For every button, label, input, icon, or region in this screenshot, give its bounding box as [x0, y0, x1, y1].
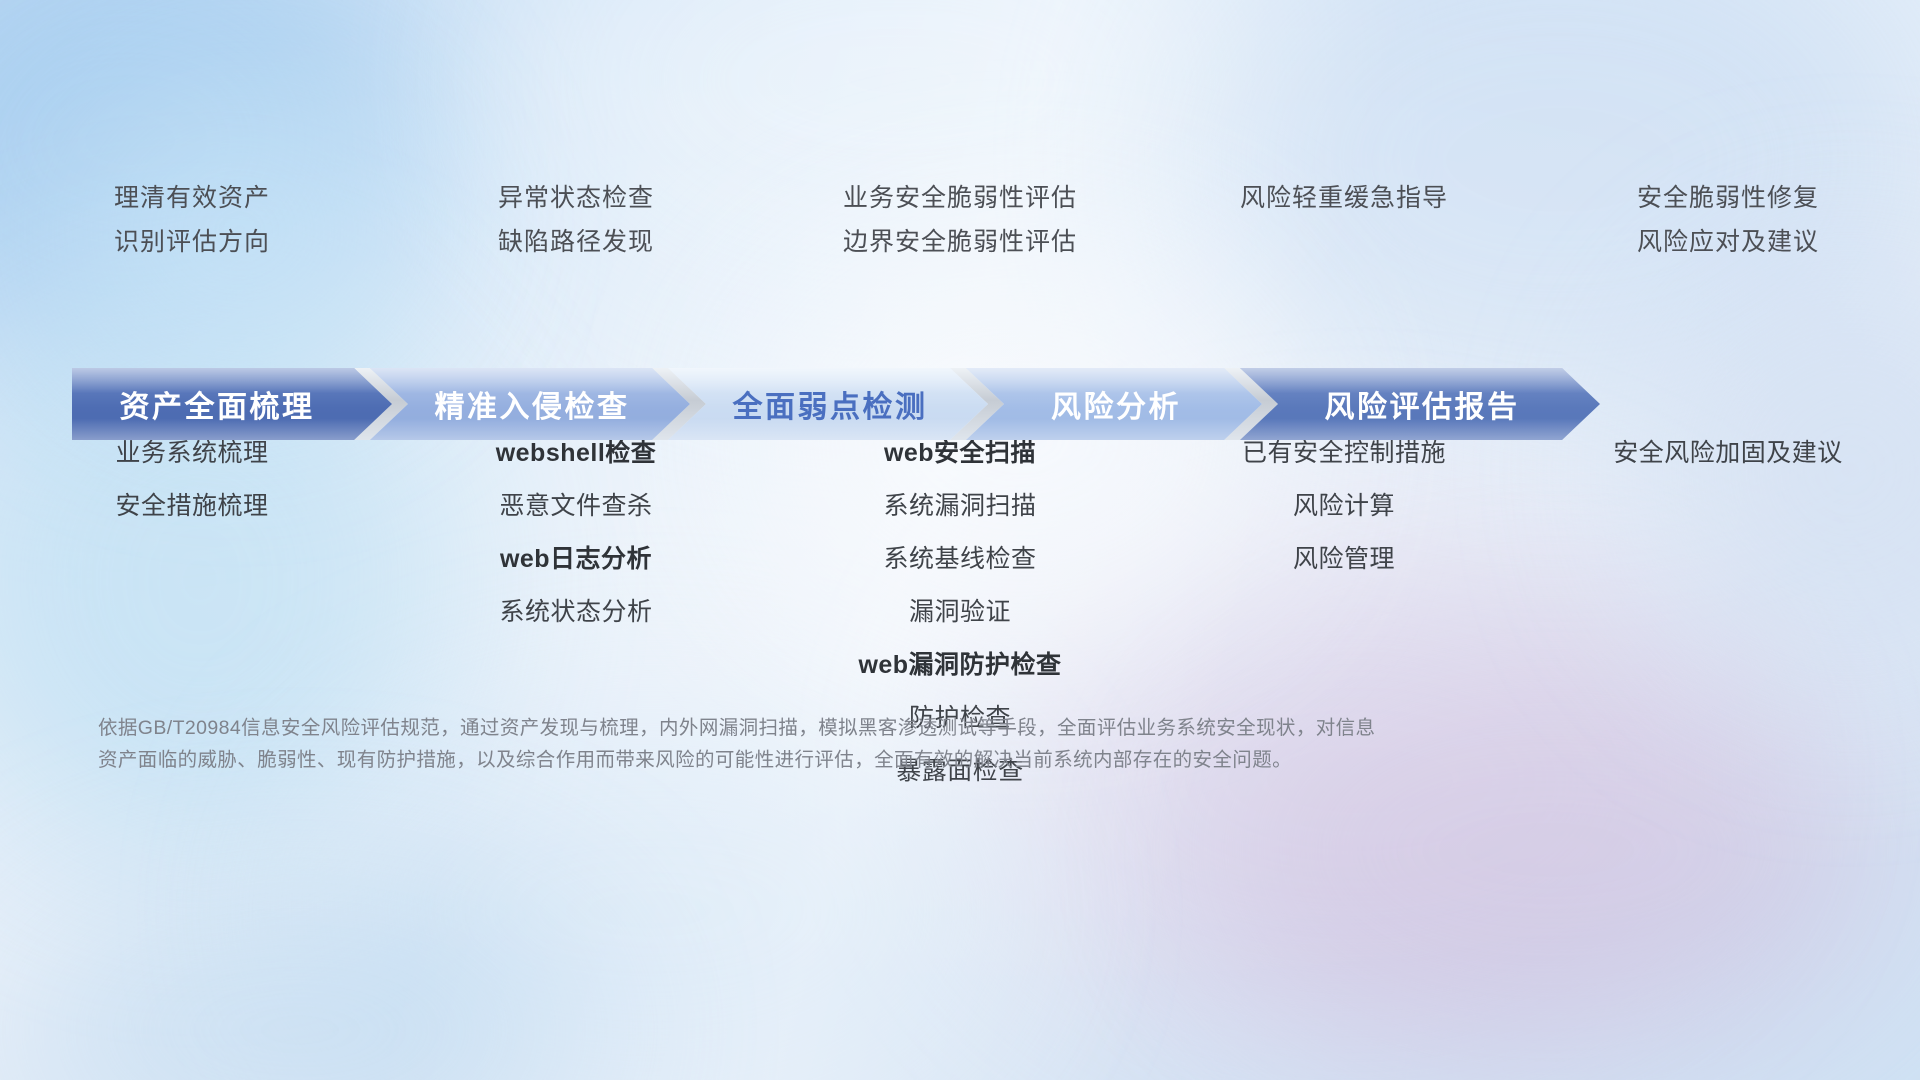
chevron-stage-5[interactable]: 风险评估报告: [1240, 368, 1600, 440]
top-labels-stage-5: 安全脆弱性修复 风险应对及建议: [1536, 186, 1920, 274]
list-item: webshell检查: [496, 441, 657, 466]
top-label: 边界安全脆弱性评估: [843, 230, 1077, 255]
list-item: 风险计算: [1293, 494, 1395, 519]
list-item: 安全风险加固及建议: [1613, 441, 1843, 466]
footer-line: 资产面临的威胁、脆弱性、现有防护措施，以及综合作用而带来风险的可能性进行评估，全…: [98, 744, 1618, 776]
chevron-label: 风险评估报告: [1240, 382, 1600, 426]
list-item: 业务系统梳理: [115, 441, 268, 466]
chevron-label: 风险分析: [966, 382, 1262, 426]
top-label: 安全脆弱性修复: [1637, 186, 1819, 211]
top-labels-stage-1: 理清有效资产 识别评估方向: [0, 186, 384, 274]
list-item: web日志分析: [500, 547, 652, 572]
footer-description: 依据GB/T20984信息安全风险评估规范，通过资产发现与梳理，内外网漏洞扫描，…: [98, 712, 1618, 776]
list-item: 安全措施梳理: [115, 494, 268, 519]
list-item: web漏洞防护检查: [858, 653, 1061, 678]
top-labels-stage-2: 异常状态检查 缺陷路径发现: [384, 186, 768, 274]
list-item: 系统漏洞扫描: [883, 494, 1036, 519]
top-label: 识别评估方向: [114, 230, 270, 255]
list-item: 已有安全控制措施: [1242, 441, 1446, 466]
chevron-label: 资产全面梳理: [72, 382, 392, 426]
list-item: web安全扫描: [884, 441, 1036, 466]
list-item: 风险管理: [1293, 547, 1395, 572]
list-item: 恶意文件查杀: [499, 494, 652, 519]
chevron-stage-2[interactable]: 精准入侵检查: [370, 368, 690, 440]
top-label: 理清有效资产: [114, 186, 270, 211]
list-item: 漏洞验证: [909, 600, 1011, 625]
list-item: 系统基线检查: [883, 547, 1036, 572]
chevron-stage-4[interactable]: 风险分析: [966, 368, 1262, 440]
chevron-label: 全面弱点检测: [668, 382, 988, 426]
list-item: 系统状态分析: [499, 600, 652, 625]
top-label: 缺陷路径发现: [498, 230, 654, 255]
top-label: 风险轻重缓急指导: [1240, 186, 1448, 211]
process-chevron-band: 资产全面梳理 精准入侵检查 全面弱点检测 风险分析 风险评估报告: [72, 368, 1848, 440]
chevron-stage-3[interactable]: 全面弱点检测: [668, 368, 988, 440]
footer-line: 依据GB/T20984信息安全风险评估规范，通过资产发现与梳理，内外网漏洞扫描，…: [98, 712, 1618, 744]
chevron-stage-1[interactable]: 资产全面梳理: [72, 368, 392, 440]
chevron-label: 精准入侵检查: [370, 382, 690, 426]
top-labels-row: 理清有效资产 识别评估方向 异常状态检查 缺陷路径发现 业务安全脆弱性评估 边界…: [0, 186, 1920, 274]
top-label: 异常状态检查: [498, 186, 654, 211]
top-labels-stage-3: 业务安全脆弱性评估 边界安全脆弱性评估: [768, 186, 1152, 274]
top-label: 风险应对及建议: [1637, 230, 1819, 255]
top-label: 业务安全脆弱性评估: [843, 186, 1077, 211]
top-labels-stage-4: 风险轻重缓急指导: [1152, 186, 1536, 274]
